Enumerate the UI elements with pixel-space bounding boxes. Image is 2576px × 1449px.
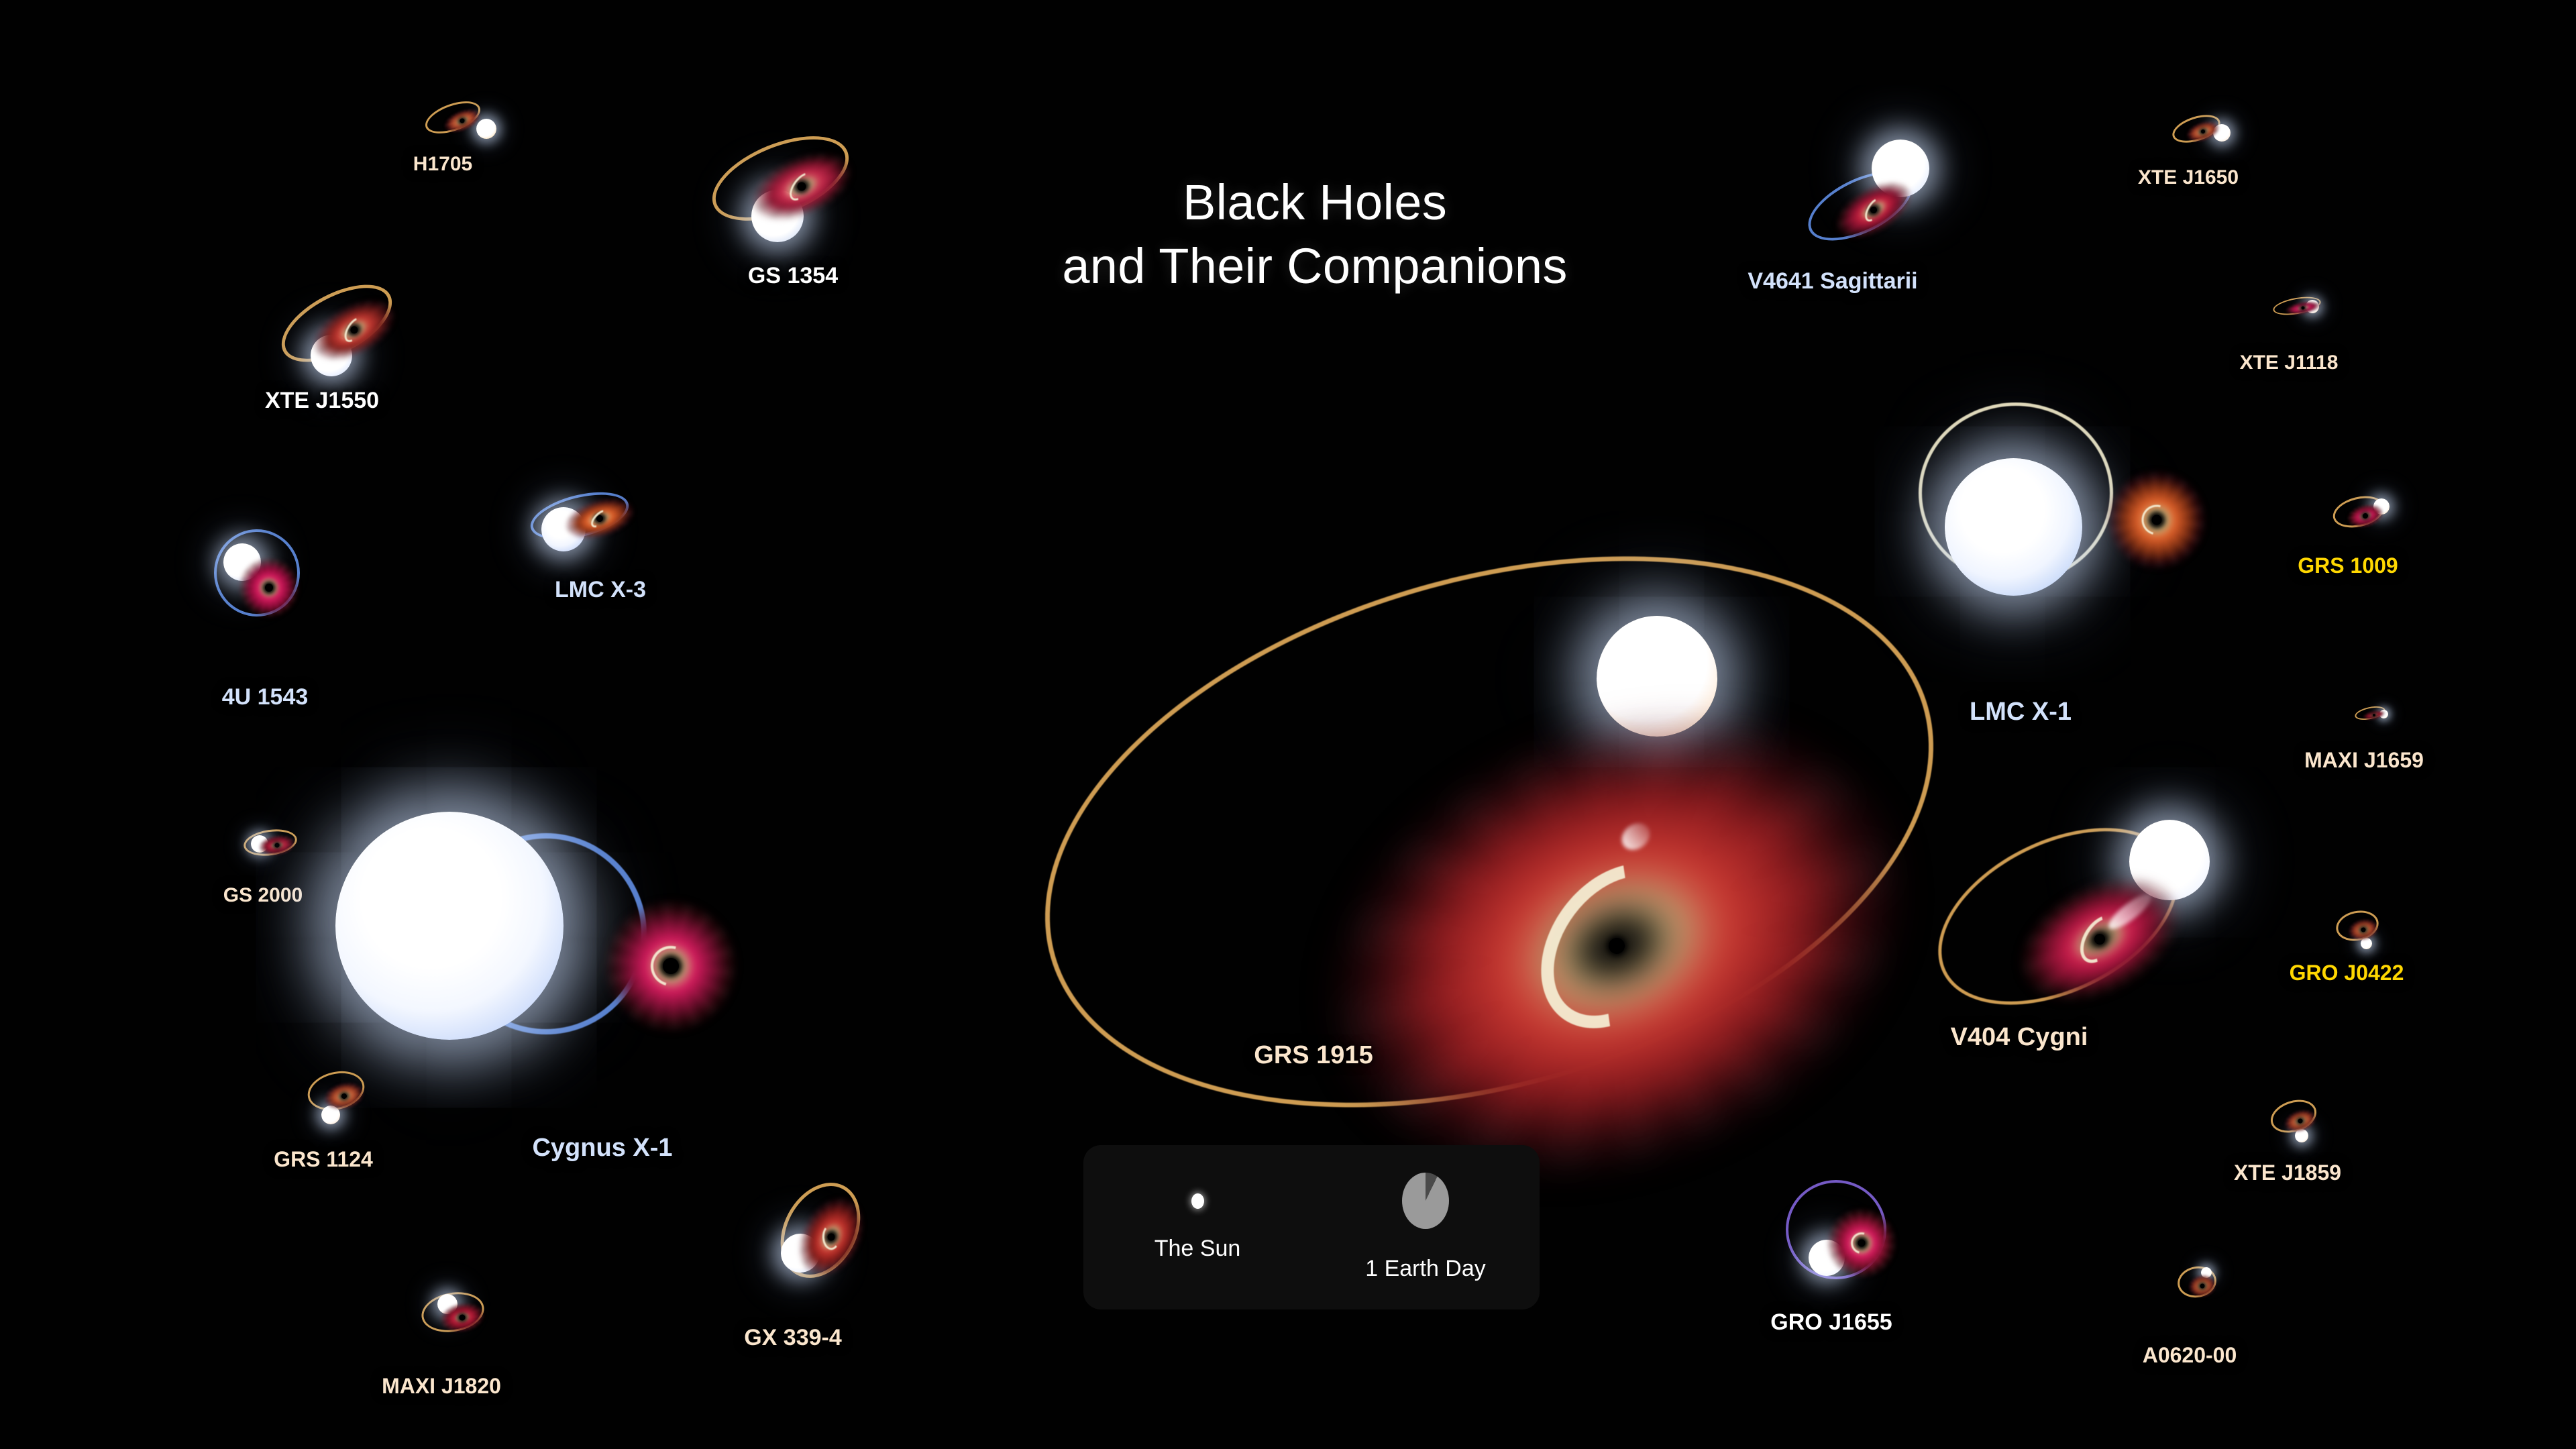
event-horizon xyxy=(1869,205,1878,215)
system-label-lmcx1: LMC X-1 xyxy=(1970,698,2072,727)
system-label-groj1655: GRO J1655 xyxy=(1770,1309,1892,1336)
accretion-disk xyxy=(604,899,738,1033)
event-horizon xyxy=(274,843,280,848)
event-horizon xyxy=(2298,1118,2304,1124)
event-horizon xyxy=(826,1232,837,1242)
system-label-gx3394: GX 339-4 xyxy=(744,1325,842,1351)
system-label-xtej1650: XTE J1650 xyxy=(2138,166,2239,189)
system-label-4u1543: 4U 1543 xyxy=(222,684,309,710)
earth-day-pie-icon xyxy=(1402,1173,1449,1229)
event-horizon xyxy=(1606,935,1627,956)
inner-ring-arc xyxy=(822,1224,841,1250)
event-horizon xyxy=(265,584,273,592)
inner-ring-arc xyxy=(588,507,612,531)
system-label-v4641sgr: V4641 Sagittarii xyxy=(1748,268,1917,294)
legend-item-sun: The Sun xyxy=(1120,1193,1275,1262)
title-line-1: Black Holes xyxy=(1183,174,1447,230)
event-horizon xyxy=(349,325,359,335)
system-label-xtej1859: XTE J1859 xyxy=(2234,1161,2341,1185)
system-label-v404cygni: V404 Cygni xyxy=(1951,1023,2088,1052)
inner-ring-arc xyxy=(643,938,698,994)
event-horizon xyxy=(596,515,604,523)
legend-label-earth-day: 1 Earth Day xyxy=(1365,1256,1486,1282)
accretion-disk xyxy=(2106,470,2207,570)
system-label-grs1009: GRS 1009 xyxy=(2298,553,2398,578)
event-horizon xyxy=(2152,515,2162,525)
inner-ring-arc xyxy=(1862,196,1886,225)
companion-star xyxy=(1945,458,2082,596)
legend-item-earth-day: 1 Earth Day xyxy=(1348,1173,1503,1282)
page-title: Black Holes and Their Companions xyxy=(1033,171,1597,298)
event-horizon xyxy=(459,117,465,123)
event-horizon xyxy=(2092,932,2107,947)
system-label-maxij1820: MAXI J1820 xyxy=(382,1374,501,1399)
scale-legend: The Sun 1 Earth Day xyxy=(1083,1145,1540,1309)
event-horizon xyxy=(2301,306,2305,310)
system-label-grs1915: GRS 1915 xyxy=(1254,1041,1373,1070)
companion-star xyxy=(335,812,563,1040)
event-horizon xyxy=(341,1093,347,1099)
event-horizon xyxy=(663,958,679,974)
event-horizon xyxy=(796,180,807,192)
system-label-xtej1118: XTE J1118 xyxy=(2240,352,2339,374)
system-label-xtej1550: XTE J1550 xyxy=(265,388,379,414)
sun-dot-icon xyxy=(1191,1193,1204,1209)
event-horizon xyxy=(2361,927,2366,932)
system-label-gs1354: GS 1354 xyxy=(748,263,838,289)
system-label-lmcx3: LMC X-3 xyxy=(555,577,646,603)
event-horizon xyxy=(2373,714,2376,717)
accretion-disk xyxy=(238,557,300,619)
system-label-cygnusx1: Cygnus X-1 xyxy=(532,1134,672,1163)
system-label-grs1124: GRS 1124 xyxy=(274,1147,373,1172)
system-label-groj0422: GRO J0422 xyxy=(2290,961,2404,985)
event-horizon xyxy=(1858,1240,1866,1247)
system-label-a062000: A0620-00 xyxy=(2143,1343,2237,1368)
system-label-maxij1659: MAXI J1659 xyxy=(2304,748,2424,773)
inner-ring-arc xyxy=(1510,835,1723,1058)
event-horizon xyxy=(459,1314,466,1321)
event-horizon xyxy=(2200,1283,2205,1289)
inner-ring-arc xyxy=(2136,499,2177,540)
event-horizon xyxy=(2200,129,2206,134)
inner-ring-arc xyxy=(1847,1228,1876,1257)
event-horizon xyxy=(2362,513,2369,519)
legend-label-sun: The Sun xyxy=(1155,1236,1241,1262)
accretion-disk xyxy=(1826,1207,1897,1279)
inner-ring-arc xyxy=(340,315,367,345)
title-line-2: and Their Companions xyxy=(1033,235,1597,299)
companion-star xyxy=(476,119,496,139)
inner-ring-arc xyxy=(785,168,818,205)
system-label-h1705: H1705 xyxy=(413,153,472,176)
system-label-gs2000: GS 2000 xyxy=(223,884,303,907)
